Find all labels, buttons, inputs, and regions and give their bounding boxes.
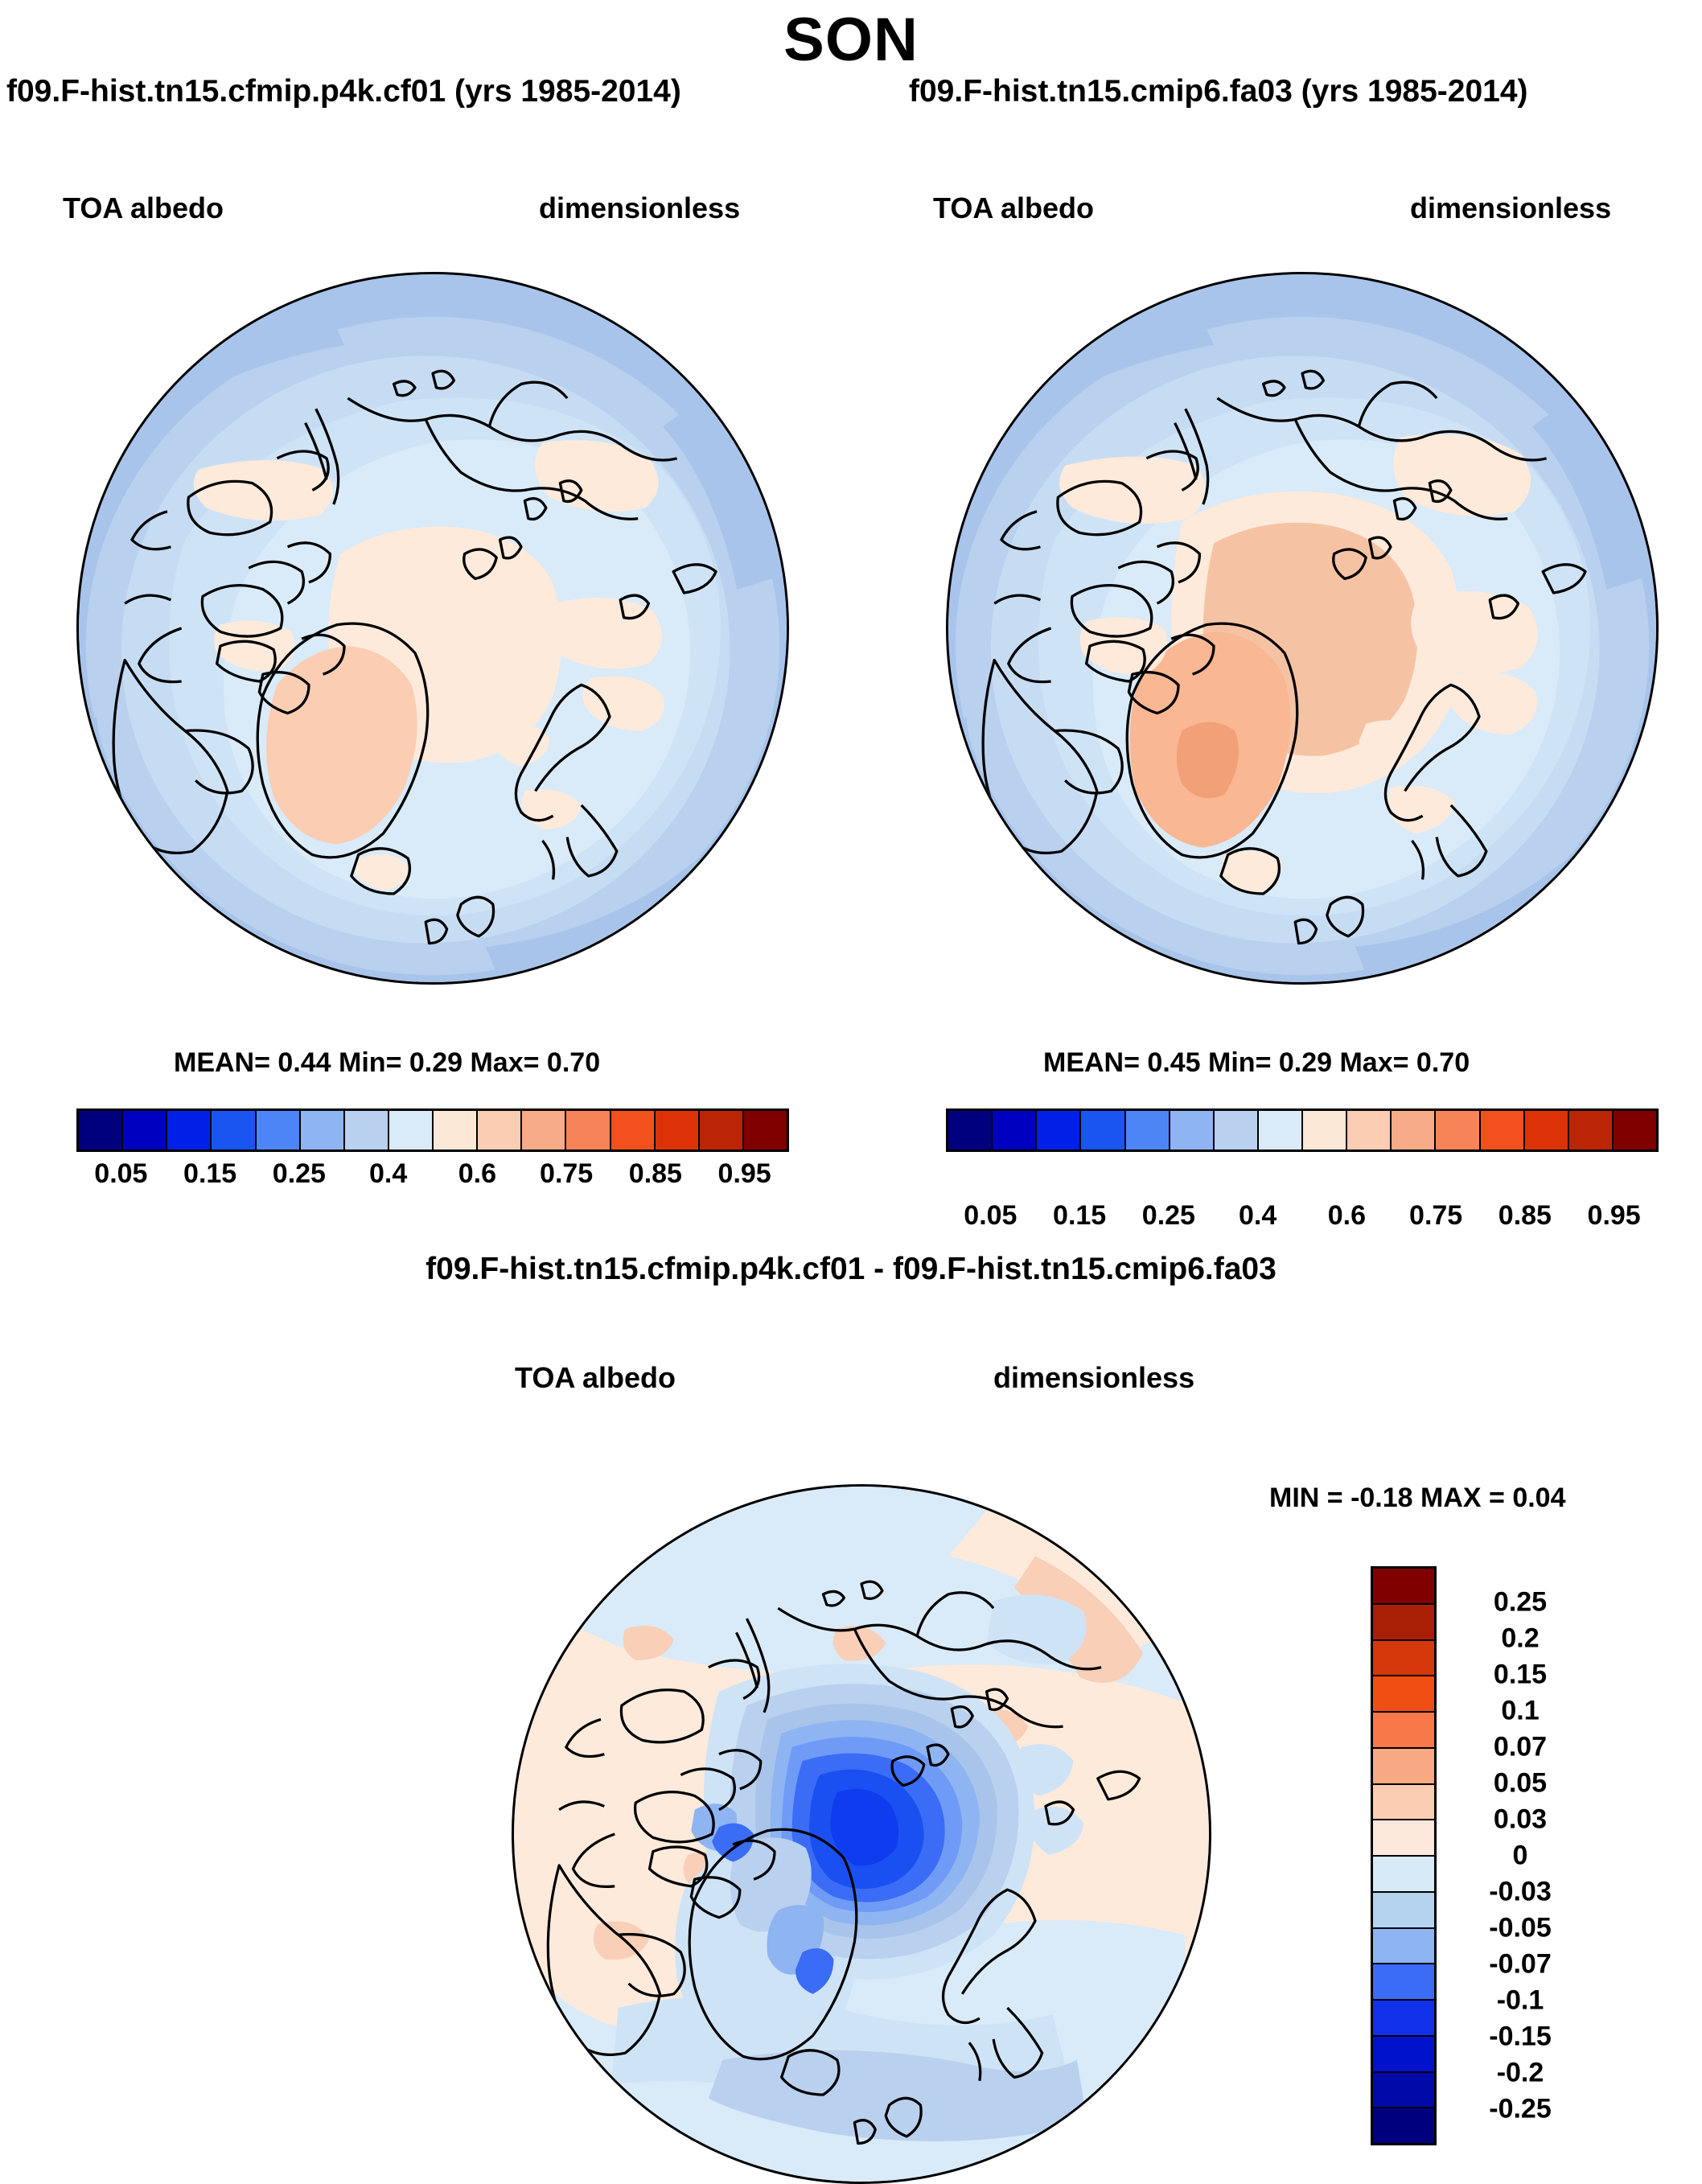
difference-colorbar (1371, 1566, 1437, 2145)
colorbar-tick-label: -0.2 (1448, 2058, 1593, 2089)
colorbar-tick-label: 0.25 (273, 1158, 326, 1190)
colorbar-tick-label: 0.4 (1239, 1200, 1276, 1232)
left-panel-units-label: dimensionless (539, 191, 740, 225)
colorbar-tick-label: 0.03 (1448, 1804, 1593, 1836)
colorbar-cell (522, 1111, 566, 1150)
left-panel-variable-label: TOA albedo (63, 191, 224, 225)
colorbar-tick-label: 0.1 (1448, 1696, 1593, 1727)
colorbar-cell (1037, 1111, 1081, 1150)
colorbar-cell (1373, 1785, 1434, 1821)
colorbar-cell (345, 1111, 389, 1150)
colorbar-cell (1170, 1111, 1215, 1150)
colorbar-cell (1215, 1111, 1259, 1150)
colorbar-tick-label: -0.03 (1448, 1877, 1593, 1908)
right-panel-stats: MEAN= 0.45 Min= 0.29 Max= 0.70 (1043, 1047, 1470, 1079)
colorbar-cell (1373, 1749, 1434, 1785)
left-colorbar (76, 1108, 789, 1152)
colorbar-cell (1392, 1111, 1436, 1150)
colorbar-cell (1614, 1111, 1656, 1150)
colorbar-cell (1373, 2073, 1434, 2109)
right-panel-case-title: f09.F-hist.tn15.cmip6.fa03 (yrs 1985-201… (909, 74, 1528, 109)
difference-minmax-label: MIN = -0.18 MAX = 0.04 (1269, 1483, 1566, 1514)
colorbar-tick-label: 0.05 (94, 1158, 147, 1190)
colorbar-cell (434, 1111, 478, 1150)
colorbar-tick-label: -0.25 (1448, 2094, 1593, 2125)
colorbar-cell (1481, 1111, 1525, 1150)
left-panel-stats: MEAN= 0.44 Min= 0.29 Max= 0.70 (174, 1047, 600, 1079)
colorbar-tick-label: 0.07 (1448, 1732, 1593, 1763)
colorbar-cell (1373, 1569, 1434, 1605)
colorbar-cell (611, 1111, 656, 1150)
colorbar-cell (1373, 1964, 1434, 2001)
left-polar-map (76, 272, 789, 985)
colorbar-cell (1373, 1929, 1434, 1965)
colorbar-tick-label: -0.07 (1448, 1949, 1593, 1980)
colorbar-tick-label: 0.6 (458, 1158, 496, 1190)
colorbar-cell (1373, 2108, 1434, 2143)
colorbar-tick-label: 0.6 (1328, 1200, 1366, 1232)
colorbar-cell (1373, 1820, 1434, 1857)
season-title: SON (0, 5, 1702, 75)
colorbar-tick-label: 0.05 (964, 1200, 1017, 1232)
difference-colorbar-ticks: 0.250.20.150.10.070.050.030-0.03-0.05-0.… (1448, 1566, 1633, 2145)
colorbar-cell (700, 1111, 744, 1150)
colorbar-cell (1373, 2001, 1434, 2037)
colorbar-tick-label: 0 (1448, 1841, 1593, 1872)
colorbar-cell (1373, 1641, 1434, 1677)
colorbar-cell (212, 1111, 256, 1150)
right-map-svg (948, 274, 1656, 982)
colorbar-cell (478, 1111, 522, 1150)
colorbar-cell (1373, 1857, 1434, 1893)
colorbar-tick-label: 0.4 (369, 1158, 407, 1190)
colorbar-cell (79, 1111, 123, 1150)
right-panel-variable-label: TOA albedo (933, 191, 1094, 225)
colorbar-cell (948, 1111, 993, 1150)
colorbar-tick-label: 0.95 (1588, 1200, 1641, 1232)
colorbar-cell (257, 1111, 301, 1150)
colorbar-cell (1569, 1111, 1614, 1150)
colorbar-cell (167, 1111, 212, 1150)
difference-map-svg (514, 1487, 1209, 2182)
colorbar-cell (1436, 1111, 1480, 1150)
colorbar-cell (1373, 2037, 1434, 2073)
colorbar-tick-label: 0.85 (629, 1158, 682, 1190)
colorbar-cell (1373, 1893, 1434, 1929)
colorbar-cell (1373, 1605, 1434, 1641)
colorbar-tick-label: 0.75 (1409, 1200, 1462, 1232)
difference-units-label: dimensionless (993, 1361, 1194, 1395)
right-colorbar-ticks: 0.050.150.250.40.60.750.850.95 (946, 1200, 1659, 1242)
colorbar-cell (993, 1111, 1037, 1150)
colorbar-cell (389, 1111, 434, 1150)
right-colorbar (946, 1108, 1659, 1152)
colorbar-tick-label: 0.75 (540, 1158, 593, 1190)
colorbar-cell (656, 1111, 700, 1150)
colorbar-cell (1081, 1111, 1125, 1150)
colorbar-cell (1259, 1111, 1303, 1150)
colorbar-tick-label: 0.85 (1498, 1200, 1552, 1232)
colorbar-cell (566, 1111, 610, 1150)
colorbar-tick-label: 0.05 (1448, 1768, 1593, 1799)
difference-variable-label: TOA albedo (515, 1361, 676, 1395)
colorbar-cell (123, 1111, 167, 1150)
difference-polar-map (512, 1484, 1211, 2184)
colorbar-tick-label: 0.25 (1142, 1200, 1195, 1232)
colorbar-tick-label: -0.15 (1448, 2022, 1593, 2053)
colorbar-cell (301, 1111, 345, 1150)
colorbar-tick-label: 0.95 (718, 1158, 771, 1190)
right-panel-units-label: dimensionless (1410, 191, 1611, 225)
colorbar-tick-label: -0.05 (1448, 1913, 1593, 1944)
difference-panel-title: f09.F-hist.tn15.cfmip.p4k.cf01 - f09.F-h… (0, 1252, 1702, 1287)
colorbar-cell (744, 1111, 787, 1150)
left-panel-case-title: f09.F-hist.tn15.cfmip.p4k.cf01 (yrs 1985… (6, 74, 681, 109)
left-colorbar-ticks: 0.050.150.250.40.60.750.850.95 (76, 1158, 789, 1200)
colorbar-cell (1347, 1111, 1392, 1150)
colorbar-tick-label: 0.25 (1448, 1587, 1593, 1618)
colorbar-tick-label: 0.15 (1448, 1660, 1593, 1691)
colorbar-tick-label: -0.1 (1448, 1985, 1593, 2017)
left-map-svg (79, 274, 787, 982)
colorbar-cell (1126, 1111, 1170, 1150)
colorbar-cell (1373, 1713, 1434, 1749)
right-polar-map (946, 272, 1659, 985)
colorbar-tick-label: 0.15 (183, 1158, 236, 1190)
colorbar-tick-label: 0.15 (1053, 1200, 1106, 1232)
colorbar-cell (1303, 1111, 1347, 1150)
colorbar-cell (1525, 1111, 1569, 1150)
colorbar-cell (1373, 1676, 1434, 1713)
colorbar-tick-label: 0.2 (1448, 1623, 1593, 1655)
